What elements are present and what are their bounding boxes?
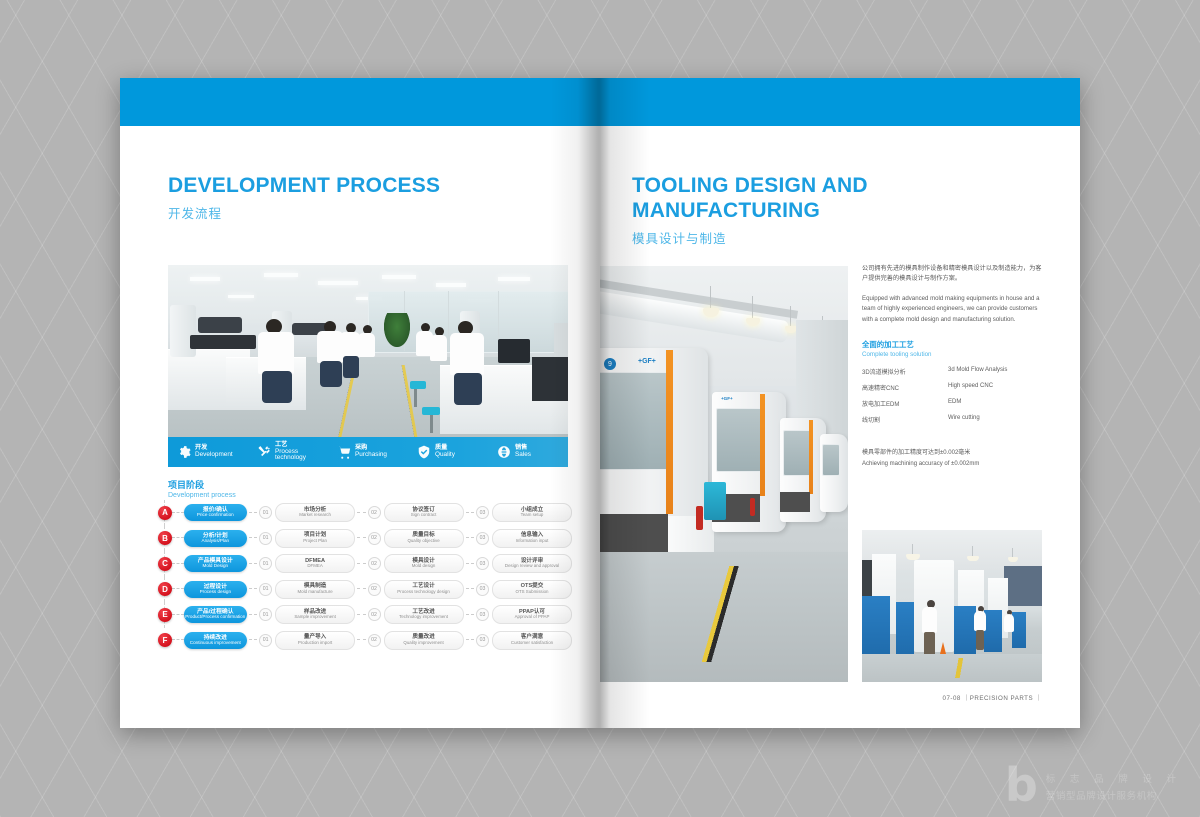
tooling-section-title-en: Complete tooling solution xyxy=(862,351,1042,358)
step-number: 02 xyxy=(368,608,381,621)
subheading-cn: 项目阶段 xyxy=(168,478,236,491)
spec-label-en: EDM xyxy=(948,399,961,408)
right-page: TOOLING DESIGN AND MANUFACTURING 模具设计与制造 xyxy=(600,78,1080,728)
step-number: 02 xyxy=(368,634,381,647)
flow-step[interactable]: 01 市场分析 Market research xyxy=(259,503,355,522)
machine-brand-label: +GF+ xyxy=(638,358,656,365)
spec-row: 线切割 Wire cutting xyxy=(862,415,1042,424)
step-label-en: Design review and approval xyxy=(505,564,559,569)
flow-step[interactable]: 03 客户满意 Customer satisfaction xyxy=(476,631,572,650)
step-number: 02 xyxy=(368,583,381,596)
flow-stage-pill[interactable]: 报价/确认 Price confirmation xyxy=(184,504,247,521)
step-label-en: Project Plan xyxy=(303,539,327,544)
flow-step[interactable]: 02 工艺改进 Technology improvement xyxy=(368,605,464,624)
edm-machining-workers-photo xyxy=(862,530,1042,682)
right-title-en-line2: MANUFACTURING xyxy=(632,199,868,224)
step-label-en: Process technology design xyxy=(397,590,449,595)
flow-stage-pill[interactable]: 持续改进 Continuous improvement xyxy=(184,632,247,649)
intro-paragraph-cn: 公司拥有先进的模具制作设备和精密模具设计以及制造能力，为客户提供完善的模具设计与… xyxy=(862,264,1042,285)
brochure-spread: DEVELOPMENT PROCESS 开发流程 xyxy=(120,78,1080,728)
icon-bar-label-en: Process technology xyxy=(275,449,328,462)
icon-bar-item-quality[interactable]: 质量 Quality xyxy=(408,445,488,459)
flow-step[interactable]: 02 工艺设计 Process technology design xyxy=(368,580,464,599)
spec-label-cn: 高速精密CNC xyxy=(862,383,948,392)
step-label-en: Quality objective xyxy=(407,539,439,544)
flow-row: D 过程设计 Process design 01 模具制造 Mold manuf… xyxy=(152,577,572,603)
flow-row: E 产品/过程确认 Product/Process confirmation 0… xyxy=(152,602,572,628)
flow-step[interactable]: 01 项目计划 Project Plan xyxy=(259,529,355,548)
flow-row-badge: D xyxy=(158,582,172,596)
step-label-en: Mold manufacture xyxy=(298,590,333,595)
right-page-heading: TOOLING DESIGN AND MANUFACTURING 模具设计与制造 xyxy=(632,174,868,247)
flow-step[interactable]: 03 信息输入 Information input xyxy=(476,529,572,548)
spec-label-en: 3d Mold Flow Analysis xyxy=(948,367,1007,376)
globe-icon xyxy=(497,445,511,459)
step-label-en: Sign contract xyxy=(411,513,437,518)
watermark-line-1: 标 志 品 牌 设 计 xyxy=(1046,771,1182,785)
flow-stage-pill[interactable]: 分析/计划 Analysis/Plan xyxy=(184,530,247,547)
flow-row-badge: E xyxy=(158,608,172,622)
step-number: 01 xyxy=(259,532,272,545)
flow-row-badge: C xyxy=(158,557,172,571)
flow-step[interactable]: 02 协议签订 Sign contract xyxy=(368,503,464,522)
step-label-en: Market research xyxy=(299,513,331,518)
step-label-en: Approval of PPAP xyxy=(515,615,550,620)
spec-row: 放电加工EDM EDM xyxy=(862,399,1042,408)
icon-bar-label-en: Sales xyxy=(515,452,531,459)
shield-check-icon xyxy=(417,445,431,459)
flow-step[interactable]: 03 PPAP认可 Approval of PPAP xyxy=(476,605,572,624)
step-label-en: Customer satisfaction xyxy=(511,641,553,646)
flow-row-badge: B xyxy=(158,531,172,545)
step-label-en: OTS Submission xyxy=(516,590,549,595)
step-label-en: Mold design xyxy=(412,564,436,569)
left-title-cn: 开发流程 xyxy=(168,203,440,222)
machine-number-badge: 9 xyxy=(604,358,616,370)
step-number: 01 xyxy=(259,608,272,621)
right-title-en-line1: TOOLING DESIGN AND xyxy=(632,174,868,199)
icon-bar-item-process-technology[interactable]: 工艺 Process technology xyxy=(248,442,328,462)
flow-row-badge: A xyxy=(158,506,172,520)
spec-label-en: Wire cutting xyxy=(948,415,980,424)
stage-label-en: Mold Design xyxy=(203,564,229,569)
tooling-section-title-cn: 全面的加工工艺 xyxy=(862,339,1042,350)
flow-stage-pill[interactable]: 产品/过程确认 Product/Process confirmation xyxy=(184,606,247,623)
intro-paragraph-en: Equipped with advanced mold making equip… xyxy=(862,294,1042,325)
flow-step[interactable]: 01 样品改进 Sample improvement xyxy=(259,605,355,624)
watermark-logo-letter: b xyxy=(1005,767,1038,805)
watermark: b 标 志 品 牌 设 计 营销型品牌设计服务机构 xyxy=(1005,767,1182,805)
spec-label-cn: 线切割 xyxy=(862,415,948,424)
page-footer: 07-08 ｜PRECISION PARTS ｜ xyxy=(943,693,1042,702)
flow-row: F 持续改进 Continuous improvement 01 量产导入 Pr… xyxy=(152,628,572,654)
flow-step[interactable]: 03 OTS提交 OTS Submission xyxy=(476,580,572,599)
flow-step[interactable]: 02 质量改进 Quality improvement xyxy=(368,631,464,650)
watermark-line-2: 营销型品牌设计服务机构 xyxy=(1046,788,1182,802)
step-number: 03 xyxy=(476,506,489,519)
cart-icon xyxy=(337,445,351,459)
step-number: 02 xyxy=(368,557,381,570)
step-number: 01 xyxy=(259,557,272,570)
step-number: 03 xyxy=(476,608,489,621)
step-label-en: Team setup xyxy=(521,513,544,518)
flow-row: B 分析/计划 Analysis/Plan 01 项目计划 Project Pl… xyxy=(152,526,572,552)
development-process-subheading: 项目阶段 Development process xyxy=(168,478,236,499)
flow-row-badge: F xyxy=(158,633,172,647)
subheading-en: Development process xyxy=(168,492,236,499)
flow-step[interactable]: 01 DFMEA DFMEA xyxy=(259,554,355,573)
step-label-en: Quality improvement xyxy=(403,641,443,646)
step-number: 03 xyxy=(476,532,489,545)
step-number: 03 xyxy=(476,634,489,647)
spec-label-en: High speed CNC xyxy=(948,383,993,392)
stage-label-en: Product/Process confirmation xyxy=(185,615,245,620)
accuracy-en: Achieving machining accuracy of ±0.002mm xyxy=(862,459,1042,470)
icon-bar-label-en: Purchasing xyxy=(355,452,387,459)
icon-bar-label-en: Quality xyxy=(435,452,455,459)
stage-label-en: Analysis/Plan xyxy=(202,539,230,544)
step-number: 01 xyxy=(259,583,272,596)
flow-step[interactable]: 03 小组成立 Team setup xyxy=(476,503,572,522)
flow-step[interactable]: 03 设计评审 Design review and approval xyxy=(476,554,572,573)
step-label-en: Sample improvement xyxy=(294,615,335,620)
left-title-en: DEVELOPMENT PROCESS xyxy=(168,174,440,199)
left-page-top-band xyxy=(120,78,600,126)
flow-row: C 产品模具设计 Mold Design 01 DFMEA DFMEA 02 xyxy=(152,551,572,577)
icon-bar-item-purchasing[interactable]: 采购 Purchasing xyxy=(328,445,408,459)
watermark-text: 标 志 品 牌 设 计 营销型品牌设计服务机构 xyxy=(1046,771,1182,802)
spec-row: 高速精密CNC High speed CNC xyxy=(862,383,1042,392)
flow-step[interactable]: 01 模具制造 Mold manufacture xyxy=(259,580,355,599)
right-title-cn: 模具设计与制造 xyxy=(632,228,868,247)
left-page-heading: DEVELOPMENT PROCESS 开发流程 xyxy=(168,174,440,222)
flow-stage-pill[interactable]: 产品模具设计 Mold Design xyxy=(184,555,247,572)
tooling-copy-column: 公司拥有先进的模具制作设备和精密模具设计以及制造能力，为客户提供完善的模具设计与… xyxy=(862,264,1042,469)
development-flow-chart: A 报价/确认 Price confirmation 01 市场分析 Marke… xyxy=(152,500,572,653)
process-icon-bar: 开发 Development 工艺 Process technology 采 xyxy=(168,437,568,467)
step-label-en: Information input xyxy=(516,539,549,544)
accuracy-cn: 模具零部件的加工精度可达到±0.002毫米 xyxy=(862,448,1042,459)
icon-bar-item-sales[interactable]: 销售 Sales xyxy=(488,445,568,459)
step-number: 03 xyxy=(476,557,489,570)
flow-stage-pill[interactable]: 过程设计 Process design xyxy=(184,581,247,598)
stage-label-en: Continuous improvement xyxy=(190,641,241,646)
flow-step[interactable]: 02 模具设计 Mold design xyxy=(368,554,464,573)
stage-label-en: Process design xyxy=(200,590,231,595)
icon-bar-label-en: Development xyxy=(195,452,233,459)
gf-cnc-machine-row-photo: 9 +GF+ +GF+ xyxy=(600,266,848,682)
gear-icon xyxy=(177,445,191,459)
step-label-en: DFMEA xyxy=(307,564,322,569)
flow-step[interactable]: 02 质量目标 Quality objective xyxy=(368,529,464,548)
flow-row: A 报价/确认 Price confirmation 01 市场分析 Marke… xyxy=(152,500,572,526)
left-page: DEVELOPMENT PROCESS 开发流程 xyxy=(120,78,600,728)
flow-step[interactable]: 01 量产导入 Production import xyxy=(259,631,355,650)
step-number: 01 xyxy=(259,506,272,519)
machining-accuracy-note: 模具零部件的加工精度可达到±0.002毫米 Achieving machinin… xyxy=(862,448,1042,469)
step-number: 03 xyxy=(476,583,489,596)
spec-label-cn: 3D流道模拟分析 xyxy=(862,367,948,376)
development-lab-photo xyxy=(168,265,568,437)
step-number: 02 xyxy=(368,532,381,545)
stage-label-en: Price confirmation xyxy=(197,513,234,518)
spec-label-cn: 放电加工EDM xyxy=(862,399,948,408)
icon-bar-item-development[interactable]: 开发 Development xyxy=(168,445,248,459)
spec-row: 3D流道模拟分析 3d Mold Flow Analysis xyxy=(862,367,1042,376)
step-number: 02 xyxy=(368,506,381,519)
tools-icon xyxy=(257,445,271,459)
tooling-spec-list: 3D流道模拟分析 3d Mold Flow Analysis 高速精密CNC H… xyxy=(862,367,1042,424)
step-label-en: Technology improvement xyxy=(399,615,448,620)
right-page-top-band xyxy=(600,78,1080,126)
step-label-en: Production import xyxy=(298,641,332,646)
step-number: 01 xyxy=(259,634,272,647)
